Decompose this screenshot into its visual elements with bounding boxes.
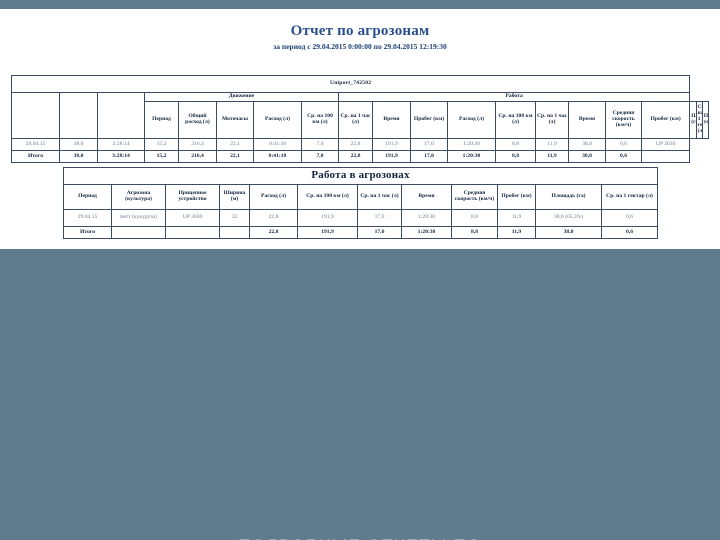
cell-wk-per-ha: 0,6 [606, 139, 642, 151]
col-mv-per-hour: Ср. на 1 час (л) [339, 102, 373, 139]
top-accent-strip [0, 0, 720, 9]
slide-root: Отчет по агрозонам за период с 29.04.201… [0, 0, 720, 540]
report-screenshot-area: Отчет по агрозонам за период с 29.04.201… [0, 9, 720, 249]
col-wk-per-hour: Ср. на 1 час (л) [536, 102, 569, 139]
cell-agro-width [220, 227, 250, 239]
cell-wk-area: 38,0 [569, 139, 606, 151]
col-mv-fuel: Расход (л) [254, 102, 302, 139]
group-header-work: Работа [339, 93, 690, 102]
cell-wk-per-100km: 191,9 [373, 151, 411, 163]
cell-agro-time: 1:20:30 [402, 227, 452, 239]
cell-agro-per-hour: 17,0 [358, 227, 402, 239]
cell-agro-width: 32 [220, 210, 250, 227]
cell-mv-per-100km: 216,4 [179, 151, 217, 163]
cell-agro-avg-speed: 8,8 [452, 210, 498, 227]
cell-agro-fuel: 22,8 [250, 210, 298, 227]
table-main-report: Uniport_742502 Движение Работа Период Об… [11, 75, 709, 163]
cell-agro-distance: 11,9 [498, 227, 536, 239]
cell-agro-implement [166, 227, 220, 239]
cell-wk-distance: 11,9 [536, 151, 569, 163]
col-agro-area: Площадь (га) [536, 185, 602, 210]
cell-total-fuel: 38,0 [60, 151, 98, 163]
cell-wk-per-hour: 17,0 [411, 151, 448, 163]
cell-period: 29.04.15 [12, 139, 60, 151]
table-agrozone-work: Работа в агрозонах Период Агрозона (куль… [63, 167, 658, 239]
cell-wk-avg-speed: 8,8 [496, 139, 536, 151]
col-engine-hours: Моточасы [217, 102, 254, 139]
table-row-total: Итого 38,0 3:28:14 15,2 216,4 22,1 0:41:… [12, 151, 709, 163]
col-wk-distance: Пробег (км) [642, 102, 690, 139]
cell-mv-time: 0:41:18 [254, 139, 302, 151]
cell-wk-distance: 11,9 [536, 139, 569, 151]
col-agro-avg-speed: Средняя скорость (км/ч) [452, 185, 498, 210]
cell-wk-fuel: 22,8 [339, 139, 373, 151]
col-agro-per-hour: Ср. на 1 час (л) [358, 185, 402, 210]
report-title: Отчет по агрозонам [0, 23, 720, 40]
group-spacer-total-fuel [60, 93, 98, 139]
table-row: 29.04.15 test1 (кукуруза) UP 3030 32 22,… [64, 210, 658, 227]
col-total-fuel: Общий расход (л) [179, 102, 217, 139]
col-agro-period: Период [64, 185, 112, 210]
col-wk-time: Время [569, 102, 606, 139]
cell-mv-fuel: 15,2 [145, 139, 179, 151]
cell-wk-per-hour: 17,0 [411, 139, 448, 151]
col-mv-time: Время [373, 102, 411, 139]
cell-agro-zone-crop: test1 (кукуруза) [112, 210, 166, 227]
cell-mv-per-hour: 22,1 [217, 139, 254, 151]
cell-mv-time: 0:41:18 [254, 151, 302, 163]
cell-implement: UP 3030 [642, 139, 690, 151]
cell-mv-per-hour: 22,1 [217, 151, 254, 163]
col-agro-distance: Пробег (км) [498, 185, 536, 210]
cell-mv-fuel: 15,2 [145, 151, 179, 163]
table-main-caption: Uniport_742502 [12, 76, 690, 93]
cell-agro-implement: UP 3030 [166, 210, 220, 227]
col-agro-time: Время [402, 185, 452, 210]
cell-agro-area: 38,0 (65,3%) [536, 210, 602, 227]
cell-wk-fuel: 22,8 [339, 151, 373, 163]
col-agro-width: Ширина (м) [220, 185, 250, 210]
cell-agro-distance: 11,9 [498, 210, 536, 227]
col-agro-zone-crop: Агрозона (культура) [112, 185, 166, 210]
cell-agro-per-ha: 0,6 [602, 227, 658, 239]
col-agro-per-ha: Ср. на 1 гектар (л) [602, 185, 658, 210]
cell-agro-avg-speed: 8,8 [452, 227, 498, 239]
group-spacer-engine-hours [98, 93, 145, 139]
table-main-group-header-row: Движение Работа [12, 93, 709, 102]
table-agro-caption-row: Работа в агрозонах [64, 168, 658, 185]
cell-wk-per-ha: 0,6 [606, 151, 642, 163]
cell-implement [642, 151, 690, 163]
cell-wk-time: 1:20:30 [448, 139, 496, 151]
cell-agro-per-ha: 0,6 [602, 210, 658, 227]
col-implement: Прицепное устройство [702, 102, 708, 139]
cell-agro-period: Итого [64, 227, 112, 239]
cell-engine-hours: 3:28:14 [98, 139, 145, 151]
cell-mv-distance: 7,0 [302, 151, 339, 163]
cell-agro-fuel: 22,8 [250, 227, 298, 239]
col-wk-avg-speed: Средняя скорость (км/ч) [606, 102, 642, 139]
cell-agro-per-100km: 191,9 [298, 227, 358, 239]
cell-agro-area: 38,0 [536, 227, 602, 239]
table-agro-caption: Работа в агрозонах [64, 168, 658, 185]
group-spacer-period [12, 93, 60, 139]
report-period-subtitle: за период с 29.04.2015 0:00:00 по 29.04.… [0, 42, 720, 51]
cell-agro-per-100km: 191,9 [298, 210, 358, 227]
cell-wk-avg-speed: 8,8 [496, 151, 536, 163]
cell-mv-per-100km: 216,4 [179, 139, 217, 151]
cell-wk-per-100km: 191,9 [373, 139, 411, 151]
col-agro-fuel: Расход (л) [250, 185, 298, 210]
cell-period: Итого [12, 151, 60, 163]
promo-kicker-line-1: ПОДРОБНЫЕ ОТЧЕТЫ ПО [110, 533, 610, 540]
table-row-total: Итого 22,8 191,9 17,0 1:20:30 8,8 11,9 3… [64, 227, 658, 239]
cell-wk-area: 38,0 [569, 151, 606, 163]
group-header-movement: Движение [145, 93, 339, 102]
table-row: 29.04.15 38,0 3:28:14 15,2 216,4 22,1 0:… [12, 139, 709, 151]
col-wk-fuel: Расход (л) [448, 102, 496, 139]
col-mv-distance: Пробег (км) [411, 102, 448, 139]
col-wk-per-100km: Ср. на 100 км (л) [496, 102, 536, 139]
col-period: Период [145, 102, 179, 139]
cell-wk-time: 1:20:30 [448, 151, 496, 163]
table-main-caption-row: Uniport_742502 [12, 76, 709, 93]
cell-total-fuel: 38,0 [60, 139, 98, 151]
col-mv-per-100km: Ср. на 100 км (л) [302, 102, 339, 139]
cell-agro-time: 1:20:30 [402, 210, 452, 227]
cell-agro-zone-crop [112, 227, 166, 239]
promo-panel: ПОДРОБНЫЕ ОТЧЕТЫ ПО АГРОЗОНАМ ДЛЯ СЕЛЬХО… [0, 249, 720, 540]
table-agro-column-header-row: Период Агрозона (культура) Прицепное уст… [64, 185, 658, 210]
cell-agro-per-hour: 17,0 [358, 210, 402, 227]
cell-mv-distance: 7,0 [302, 139, 339, 151]
cell-engine-hours: 3:28:14 [98, 151, 145, 163]
cell-agro-period: 29.04.15 [64, 210, 112, 227]
promo-kicker: ПОДРОБНЫЕ ОТЧЕТЫ ПО АГРОЗОНАМ ДЛЯ СЕЛЬХО… [110, 533, 610, 540]
col-agro-per-100km: Ср. на 100 км (л) [298, 185, 358, 210]
col-agro-implement: Прицепное устройство [166, 185, 220, 210]
